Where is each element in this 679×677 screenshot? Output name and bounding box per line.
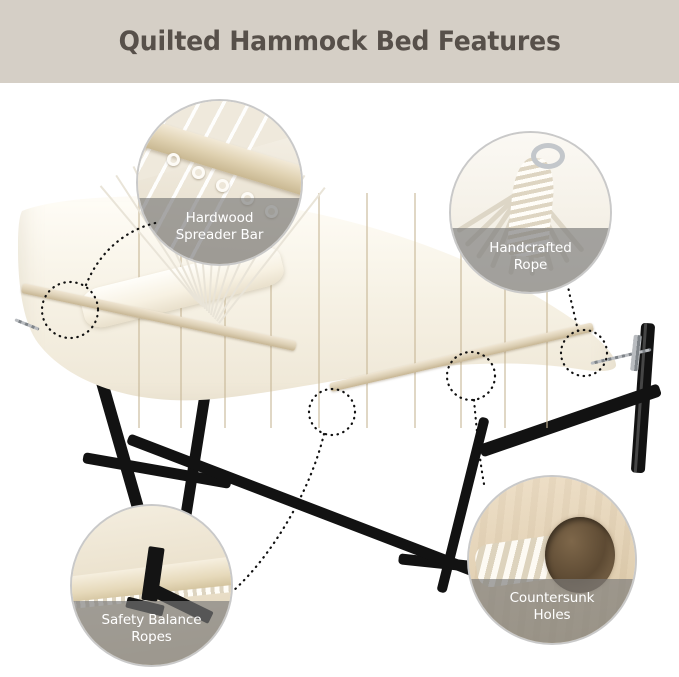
caption-line-1: Countersunk [475, 590, 629, 607]
metal-ring [531, 143, 565, 169]
caption-line-1: Handcrafted [457, 240, 604, 257]
caption-line-1: Safety Balance [78, 612, 225, 629]
caption-line-2: Ropes [78, 629, 225, 646]
rope-loop [192, 166, 205, 179]
quilt-stitch [318, 193, 320, 428]
quilt-stitch [366, 193, 368, 428]
callout-hardwood-spreader-bar[interactable]: Hardwood Spreader Bar [136, 99, 303, 266]
caption-line-2: Rope [457, 257, 604, 274]
page-title: Quilted Hammock Bed Features [118, 26, 560, 57]
callout-caption-safety-balance-ropes: Safety Balance Ropes [72, 601, 231, 665]
quilt-stitch [414, 193, 416, 428]
infographic-page: Quilted Hammock Bed Features [0, 0, 679, 677]
title-banner: Quilted Hammock Bed Features [0, 0, 679, 83]
callout-caption-handcrafted-rope: Handcrafted Rope [451, 228, 610, 292]
callout-safety-balance-ropes[interactable]: Safety Balance Ropes [70, 504, 233, 667]
caption-line-1: Hardwood [144, 210, 295, 227]
caption-line-2: Spreader Bar [144, 227, 295, 244]
callout-caption-hardwood-spreader-bar: Hardwood Spreader Bar [138, 198, 301, 264]
callout-handcrafted-rope[interactable]: Handcrafted Rope [449, 131, 612, 294]
caption-line-2: Holes [475, 607, 629, 624]
callout-countersunk-holes[interactable]: Countersunk Holes [467, 475, 637, 645]
callout-caption-countersunk-holes: Countersunk Holes [469, 579, 635, 643]
rope-loop [216, 179, 229, 192]
rope-loop [167, 153, 180, 166]
